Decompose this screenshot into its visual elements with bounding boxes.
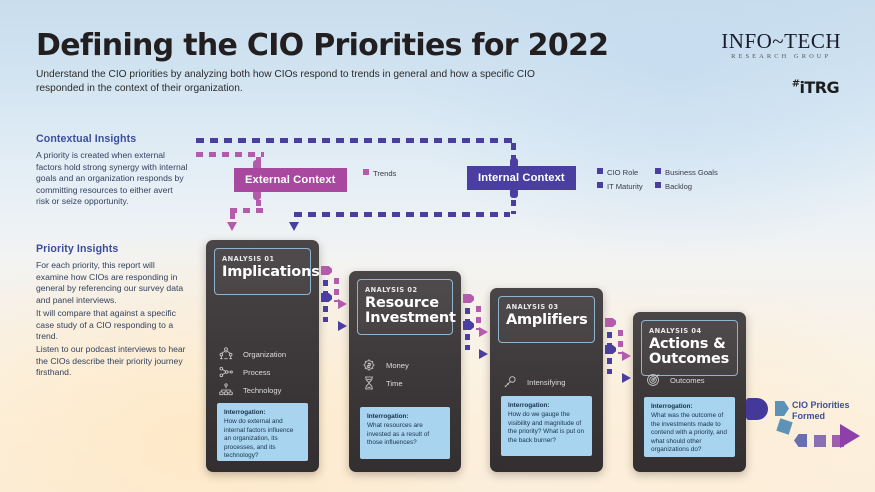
dash-segment-magenta-top	[209, 152, 216, 157]
legend-swatch	[597, 168, 603, 174]
dash-segment-blue-lower	[448, 212, 456, 217]
analysis-card-feature-label: Outcomes	[670, 376, 705, 385]
connector-3-4-blue-dash	[607, 358, 612, 364]
outcome-label: CIO Priorities Formed	[792, 400, 872, 422]
analysis-card-kicker: ANALYSIS 04	[649, 327, 730, 335]
dash-segment-blue-lower	[378, 212, 386, 217]
legend-item-it-maturity: IT Maturity	[597, 182, 643, 191]
legend-swatch	[363, 169, 369, 175]
interrogation-heading: Interrogation:	[651, 403, 728, 410]
dash-segment-blue-top	[350, 138, 358, 143]
interrogation-body: What was the outcome of the investments …	[651, 412, 728, 455]
analysis-card-feature-label: Organization	[243, 350, 286, 359]
outcome-arrow-icon	[840, 424, 860, 448]
dash-segment-blue-top	[336, 138, 344, 143]
analysis-card-feature: Process	[218, 364, 270, 380]
connector-3-4-blue-dash	[607, 343, 612, 349]
infographic-canvas: Defining the CIO Priorities for 2022 Und…	[0, 0, 875, 492]
dash-segment-blue-top	[294, 138, 302, 143]
info-tech-logo-tagline: RESEARCH GROUP	[721, 53, 841, 60]
analysis-card-feature-label: Intensifying	[527, 378, 565, 387]
dash-segment-blue-lower	[322, 212, 330, 217]
dash-segment-blue-lower	[364, 212, 372, 217]
dash-segment-blue-top	[434, 138, 442, 143]
dash-segment-blue-lower	[294, 212, 302, 217]
dash-segment-blue-lower	[308, 212, 316, 217]
legend-swatch	[655, 182, 661, 188]
dash-segment-blue-lower	[511, 211, 516, 214]
dash-segment-magenta-lower	[243, 208, 250, 213]
analysis-card-feature: Intensifying	[502, 374, 565, 390]
dash-segment-magenta-top	[261, 152, 264, 157]
page-subtitle: Understand the CIO priorities by analyzi…	[36, 68, 536, 96]
dash-segment-magenta-top	[222, 152, 229, 157]
dash-segment-blue-lower	[511, 200, 516, 206]
dash-segment-blue-lower	[504, 212, 510, 217]
technology-icon	[218, 382, 234, 398]
analysis-card-title: Resource Investment	[365, 296, 445, 326]
analysis-card[interactable]: ANALYSIS 03AmplifiersIntensifyingInterro…	[490, 288, 603, 472]
connector-2-3-magenta-dash	[476, 317, 481, 323]
money-icon	[361, 357, 377, 373]
itrg-logo: #iTRG	[792, 78, 839, 97]
connector-1-2-blue-dash	[323, 280, 328, 286]
magnifier-icon	[502, 374, 518, 390]
legend-item-cio-role: CIO Role	[597, 168, 638, 177]
analysis-card-title: Implications	[222, 265, 303, 280]
priority-insights-paragraph-1: For each priority, this report will exam…	[36, 260, 188, 306]
hourglass-icon	[361, 375, 377, 391]
connector-2-3-blue-dash	[465, 319, 470, 325]
priority-insights-paragraph-3: Listen to our podcast interviews to hear…	[36, 344, 188, 379]
dash-segment-blue-lower	[490, 212, 498, 217]
process-icon	[218, 364, 234, 380]
connector-1-2-magenta-tail	[321, 266, 332, 275]
dash-segment-magenta-top	[248, 152, 255, 157]
dash-segment-magenta-lower	[256, 208, 263, 213]
dash-segment-blue-top	[308, 138, 316, 143]
dash-segment-blue-top	[210, 138, 218, 143]
dash-segment-blue-top	[476, 138, 484, 143]
info-tech-logo: INFO~TECH RESEARCH GROUP	[721, 30, 841, 60]
connector-1-2-blue-dash	[323, 317, 328, 322]
itrg-hash: #	[792, 79, 800, 90]
dash-segment-blue-lower	[462, 212, 470, 217]
connector-3-4-blue-dash	[607, 332, 612, 338]
interrogation-box: Interrogation:How do external and intern…	[217, 403, 308, 461]
analysis-card-header: ANALYSIS 03Amplifiers	[498, 296, 595, 343]
target-icon	[645, 372, 661, 388]
analysis-card-feature-label: Money	[386, 361, 409, 370]
connector-2-3-magenta-dash	[476, 306, 481, 312]
analysis-card-feature: Outcomes	[645, 372, 705, 388]
dash-segment-blue-lower	[392, 212, 400, 217]
connector-2-3-blue-dash	[465, 345, 470, 350]
legend-label: Business Goals	[665, 168, 718, 177]
connector-2-3-magenta-arrow-icon	[479, 327, 488, 337]
internal-context-chip[interactable]: Internal Context	[467, 166, 576, 190]
connector-1-2-blue-dash	[323, 306, 328, 312]
itrg-wordmark: iTRG	[800, 78, 839, 97]
analysis-card[interactable]: ANALYSIS 02Resource InvestmentMoneyTimeI…	[349, 271, 461, 472]
connector-2-3-blue-arrow-icon	[479, 349, 488, 359]
dash-segment-blue-top	[224, 138, 232, 143]
analysis-card-feature: Technology	[218, 382, 281, 398]
connector-3-4-magenta-tail	[605, 318, 616, 327]
dash-segment-blue-top	[420, 138, 428, 143]
analysis-card[interactable]: ANALYSIS 01ImplicationsOrganizationProce…	[206, 240, 319, 472]
interrogation-box: Interrogation:How do we gauge the visibi…	[501, 396, 592, 456]
external-context-chip[interactable]: External Context	[234, 168, 347, 192]
connector-3-4-magenta-dash	[618, 341, 623, 347]
dash-segment-blue-top	[238, 138, 246, 143]
legend-label: CIO Role	[607, 168, 638, 177]
outcome-start-tab	[746, 398, 768, 420]
dash-segment-blue-top	[252, 138, 260, 143]
priority-insights-heading: Priority Insights	[36, 243, 118, 255]
connector-3-4-blue-arrow-icon	[622, 373, 631, 383]
connector-1-2-blue-dash	[323, 291, 328, 297]
analysis-card-kicker: ANALYSIS 01	[222, 255, 303, 263]
organization-icon	[218, 346, 234, 362]
arrow-down-blue-icon	[289, 222, 299, 231]
dash-segment-blue-lower	[336, 212, 344, 217]
analysis-card-feature: Time	[361, 375, 403, 391]
connector-3-4-magenta-dash	[618, 330, 623, 336]
analysis-card-kicker: ANALYSIS 02	[365, 286, 445, 294]
legend-item-trends: Trends	[363, 169, 396, 178]
contextual-insights-heading: Contextual Insights	[36, 133, 136, 145]
analysis-card[interactable]: ANALYSIS 04Actions & OutcomesOutcomesInt…	[633, 312, 746, 472]
analysis-card-title: Amplifiers	[506, 313, 587, 328]
interrogation-body: How do we gauge the visibility and magni…	[508, 411, 585, 445]
dash-segment-blue-lower	[406, 212, 414, 217]
dash-segment-blue-drop	[511, 143, 516, 150]
analysis-card-feature-label: Time	[386, 379, 403, 388]
dash-segment-blue-top	[462, 138, 470, 143]
dash-segment-magenta-top	[235, 152, 242, 157]
analysis-card-feature: Money	[361, 357, 409, 373]
connector-2-3-blue-dash	[465, 334, 470, 340]
legend-swatch	[655, 168, 661, 174]
priority-insights-paragraph-2: It will compare that against a specific …	[36, 308, 188, 343]
contextual-insights-paragraph: A priority is created when external fact…	[36, 150, 188, 208]
dash-segment-blue-top	[364, 138, 372, 143]
dash-segment-blue-lower	[420, 212, 428, 217]
arrow-down-magenta-icon	[227, 222, 237, 231]
interrogation-heading: Interrogation:	[224, 409, 301, 416]
interrogation-box: Interrogation:What resources are investe…	[360, 407, 450, 459]
legend-label: IT Maturity	[607, 182, 643, 191]
dash-segment-blue-lower	[476, 212, 484, 217]
dash-segment-blue-top	[392, 138, 400, 143]
legend-item-business-goals: Business Goals	[655, 168, 718, 177]
dash-segment-blue-top	[266, 138, 274, 143]
connector-3-4-magenta-arrow-icon	[622, 351, 631, 361]
analysis-card-kicker: ANALYSIS 03	[506, 303, 587, 311]
dash-segment-blue-top	[322, 138, 330, 143]
dash-segment-blue-top	[448, 138, 456, 143]
dash-segment-blue-top	[196, 138, 204, 143]
analysis-card-title: Actions & Outcomes	[649, 337, 730, 367]
legend-label: Trends	[373, 169, 396, 178]
legend-item-backlog: Backlog	[655, 182, 692, 191]
interrogation-heading: Interrogation:	[367, 413, 443, 420]
interrogation-heading: Interrogation:	[508, 402, 585, 409]
connector-1-2-magenta-dash	[334, 289, 339, 295]
analysis-card-feature: Organization	[218, 346, 286, 362]
connector-3-4-blue-dash	[607, 369, 612, 374]
connector-1-2-blue-arrow-icon	[338, 321, 347, 331]
analysis-card-header: ANALYSIS 01Implications	[214, 248, 311, 295]
legend-swatch	[597, 182, 603, 188]
connector-1-2-magenta-dash	[334, 278, 339, 284]
dash-segment-magenta-lower	[256, 200, 261, 206]
connector-1-2-magenta-arrow-icon	[338, 299, 347, 309]
dash-segment-magenta-lower	[230, 212, 235, 219]
dash-segment-blue-lower	[434, 212, 442, 217]
connector-2-3-blue-dash	[465, 308, 470, 314]
analysis-card-header: ANALYSIS 02Resource Investment	[357, 279, 453, 335]
dash-segment-blue-top	[490, 138, 498, 143]
dash-segment-magenta-top	[196, 152, 203, 157]
dash-segment-blue-top	[280, 138, 288, 143]
interrogation-box: Interrogation:What was the outcome of th…	[644, 397, 735, 457]
dash-segment-blue-top	[378, 138, 386, 143]
interrogation-body: What resources are invested as a result …	[367, 422, 443, 448]
analysis-card-header: ANALYSIS 04Actions & Outcomes	[641, 320, 738, 376]
info-tech-logo-wordmark: INFO~TECH	[721, 30, 841, 52]
analysis-card-feature-label: Process	[243, 368, 270, 377]
analysis-card-feature-label: Technology	[243, 386, 281, 395]
dash-segment-blue-lower	[350, 212, 358, 217]
outcome-shape-purple-square	[814, 435, 826, 447]
legend-label: Backlog	[665, 182, 692, 191]
interrogation-body: How do external and internal factors inf…	[224, 418, 301, 461]
page-title: Defining the CIO Priorities for 2022	[36, 28, 608, 63]
connector-2-3-magenta-tail	[463, 294, 474, 303]
dash-segment-blue-top	[406, 138, 414, 143]
